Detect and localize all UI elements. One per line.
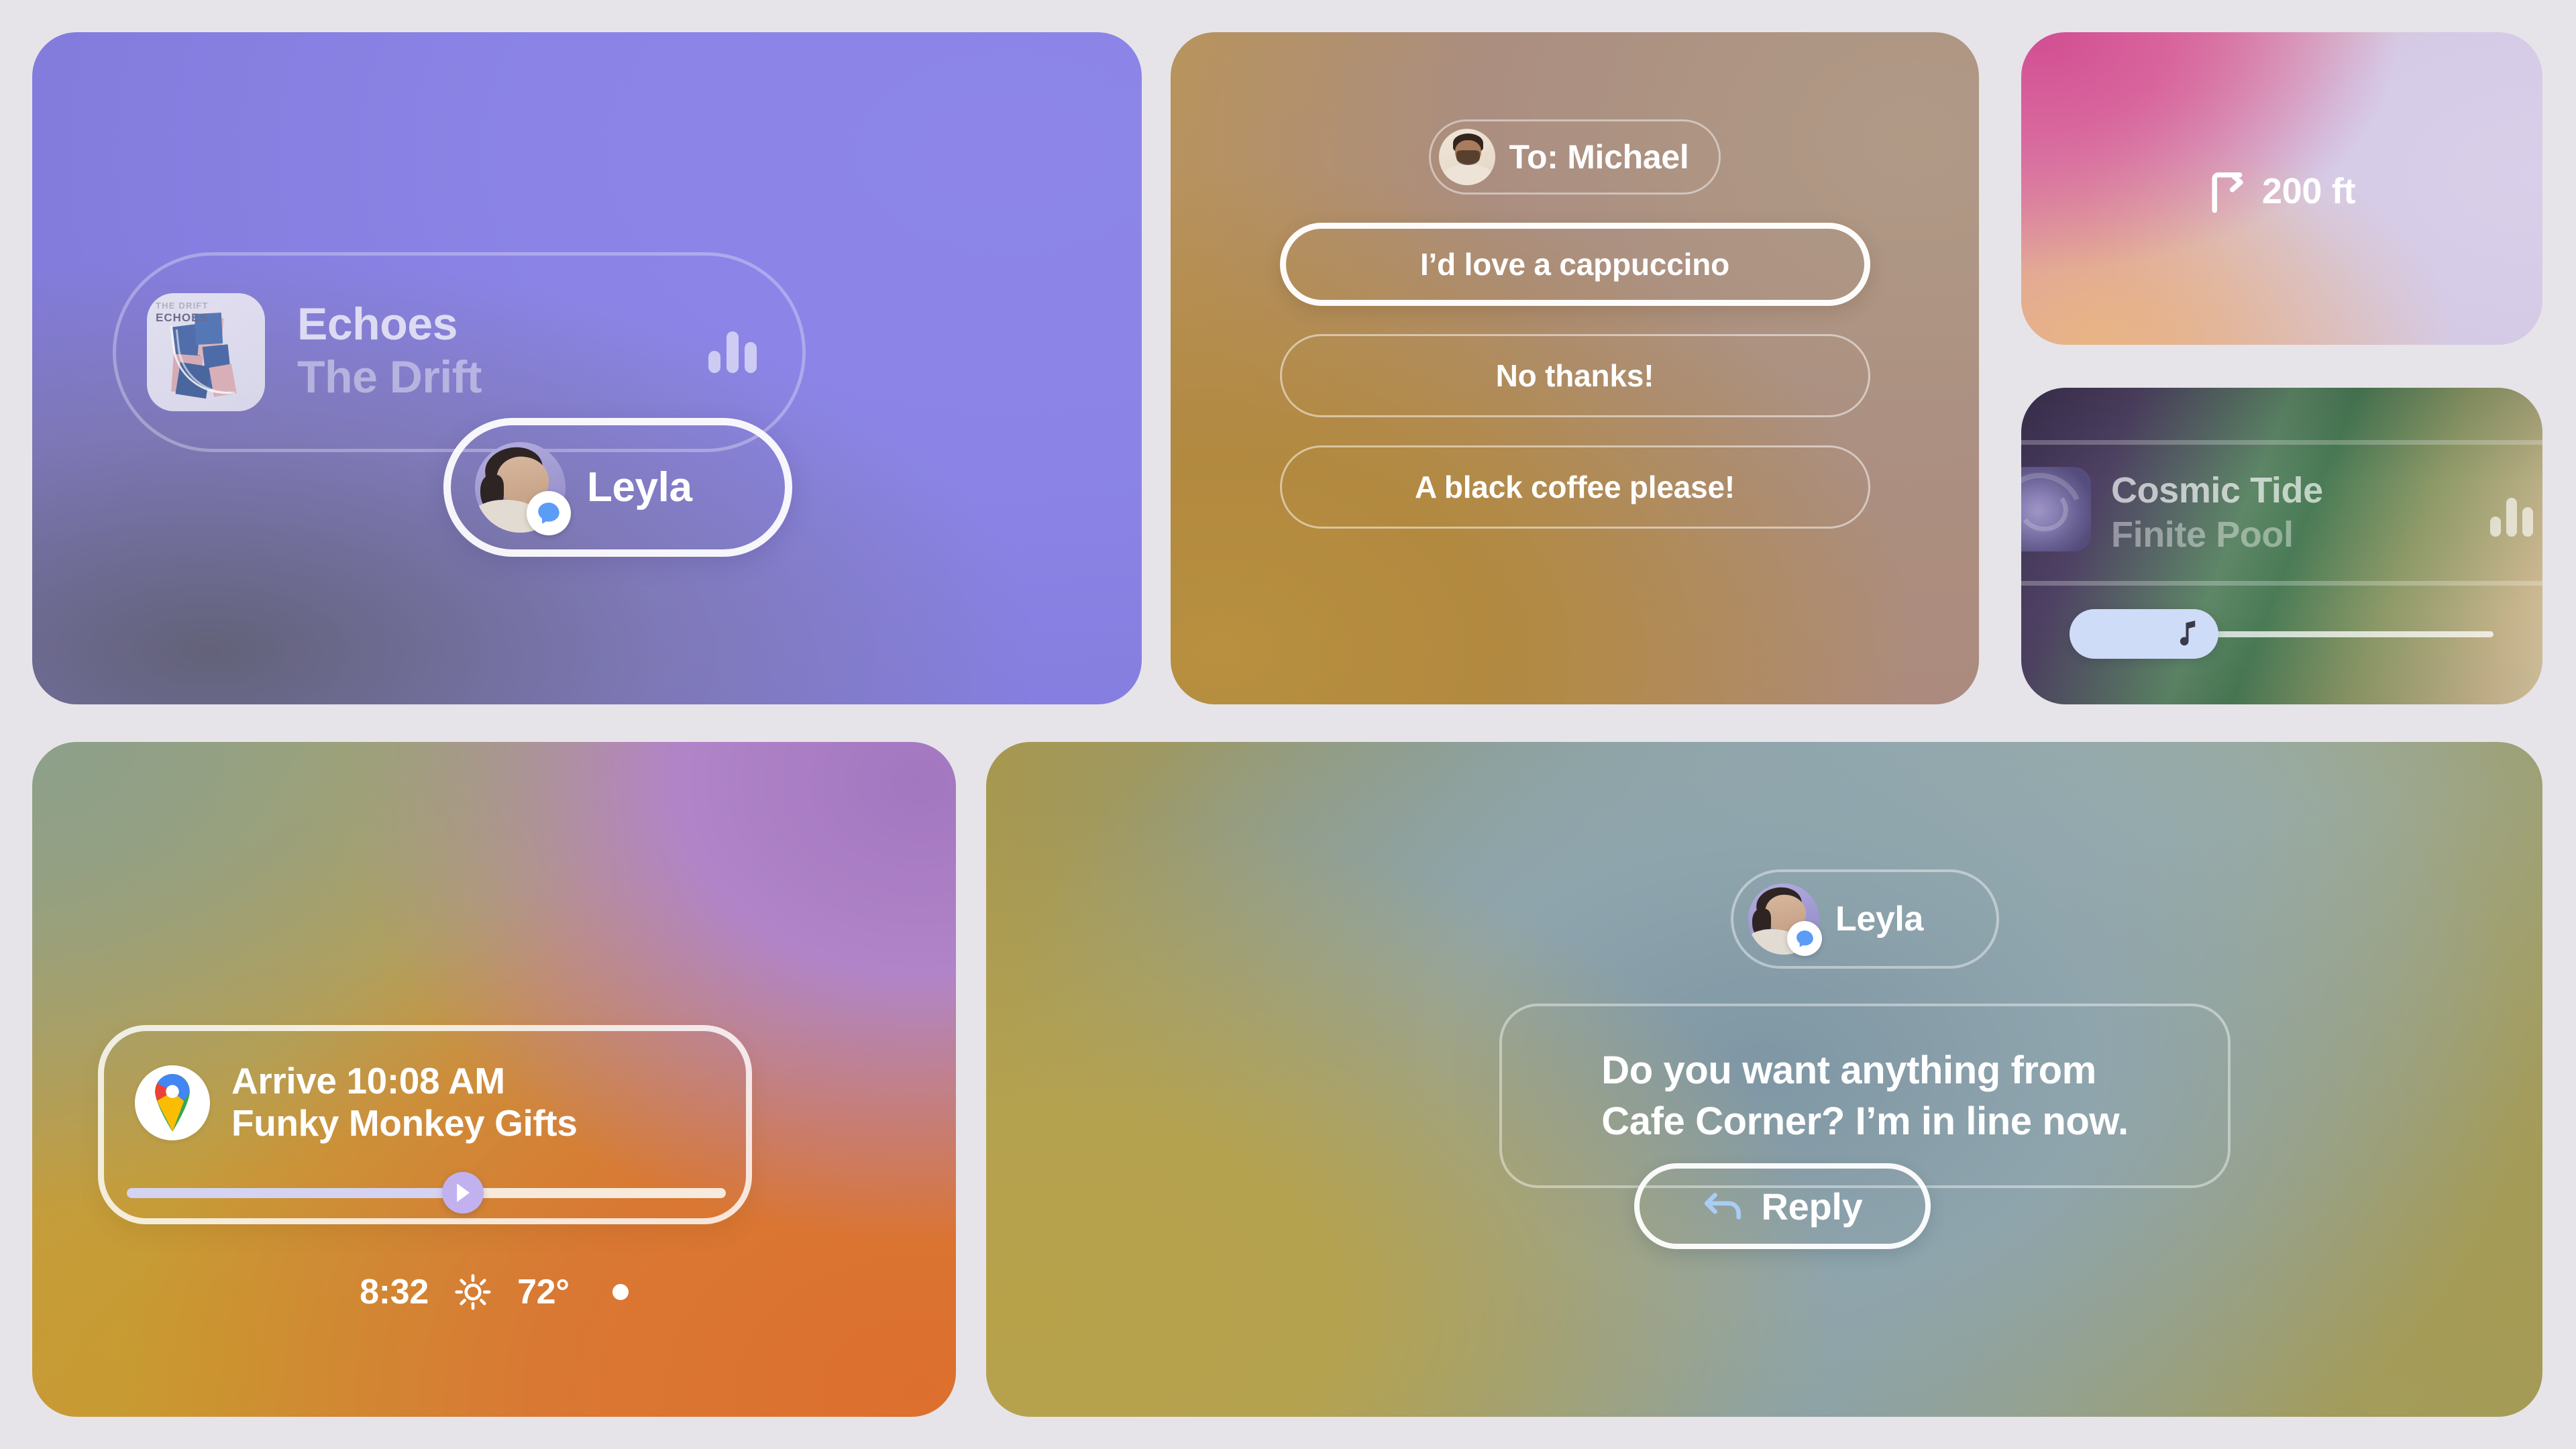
messages-badge-icon <box>1787 921 1822 956</box>
navigation-arrow-icon <box>454 1183 472 1203</box>
progress-fill <box>127 1188 474 1198</box>
track-artist: Finite Pool <box>2111 514 2294 555</box>
suggested-replies-card[interactable]: To: Michael I’d love a cappuccino No tha… <box>1171 32 1979 704</box>
avatar <box>1748 883 1819 955</box>
dashboard-canvas: THE DRIFT ECHOES Echoes The Drift <box>0 0 2576 1449</box>
message-bubble: Do you want anything from Cafe Corner? I… <box>1499 1004 2231 1188</box>
navigation-card[interactable]: Arrive 10:08 AM Funky Monkey Gifts 8:32 <box>32 742 956 1417</box>
album-art-line1: THE DRIFT <box>156 301 209 311</box>
music-note-icon <box>2174 619 2200 649</box>
progress-remaining <box>474 1188 726 1198</box>
scrubber[interactable] <box>2070 609 2532 659</box>
arrive-pill[interactable]: Arrive 10:08 AM Funky Monkey Gifts <box>98 1025 752 1224</box>
dot-icon <box>612 1284 629 1300</box>
messages-badge-icon <box>527 491 571 535</box>
route-progress-slider[interactable] <box>127 1172 726 1210</box>
recipient-label: To: Michael <box>1509 138 1688 176</box>
track-artist: The Drift <box>297 350 708 404</box>
scrubber-track[interactable] <box>2197 631 2493 637</box>
reply-option-1[interactable]: No thanks! <box>1280 334 1870 417</box>
cosmic-player-card[interactable]: FINITEPOOL Cosmic Tide Finite Pool <box>2021 388 2542 704</box>
turn-distance-card[interactable]: 200 ft <box>2021 32 2542 345</box>
equalizer-icon <box>2490 498 2533 537</box>
album-art: FINITEPOOL <box>2021 467 2091 551</box>
track-title: Echoes <box>297 301 708 348</box>
clock-time: 8:32 <box>360 1272 429 1312</box>
reply-option-label: I’d love a cappuccino <box>1420 246 1729 282</box>
caller-pill[interactable]: Leyla <box>443 418 792 557</box>
arrive-destination: Funky Monkey Gifts <box>231 1102 577 1145</box>
sender-name: Leyla <box>1835 899 1923 939</box>
google-maps-pin-icon <box>135 1065 210 1140</box>
reply-button[interactable]: Reply <box>1634 1163 1931 1249</box>
message-line-2: Cafe Corner? I’m in line now. <box>1601 1099 2128 1143</box>
arrive-eta: Arrive 10:08 AM <box>231 1061 577 1102</box>
reply-option-0[interactable]: I’d love a cappuccino <box>1280 223 1870 306</box>
message-line-1: Do you want anything from <box>1601 1049 2096 1092</box>
incoming-message-card[interactable]: Leyla Do you want anything from Cafe Cor… <box>986 742 2542 1417</box>
status-row: 8:32 72° <box>32 1272 956 1312</box>
avatar <box>475 442 566 533</box>
scrubber-thumb[interactable] <box>2070 609 2218 659</box>
sender-pill[interactable]: Leyla <box>1731 869 1999 969</box>
equalizer-icon <box>708 331 757 373</box>
progress-thumb[interactable] <box>442 1172 484 1214</box>
caller-name: Leyla <box>587 464 692 511</box>
track-title: Cosmic Tide <box>2111 470 2323 511</box>
album-art: THE DRIFT ECHOES <box>147 293 265 411</box>
track-meta: Echoes The Drift <box>297 301 708 405</box>
reply-option-label: A black coffee please! <box>1415 469 1735 505</box>
album-art-line2: ECHOES <box>156 311 209 325</box>
temperature: 72° <box>517 1272 570 1312</box>
sun-icon <box>454 1273 492 1311</box>
reply-option-2[interactable]: A black coffee please! <box>1280 445 1870 529</box>
turn-right-icon <box>2208 169 2247 213</box>
reply-arrow-icon <box>1703 1189 1744 1223</box>
now-playing-card[interactable]: THE DRIFT ECHOES Echoes The Drift <box>32 32 1142 704</box>
recipient-pill[interactable]: To: Michael <box>1429 119 1720 195</box>
recipient-avatar <box>1439 129 1495 185</box>
reply-option-label: No thanks! <box>1496 358 1654 394</box>
turn-distance-label: 200 ft <box>2262 170 2355 212</box>
reply-button-label: Reply <box>1762 1185 1863 1228</box>
